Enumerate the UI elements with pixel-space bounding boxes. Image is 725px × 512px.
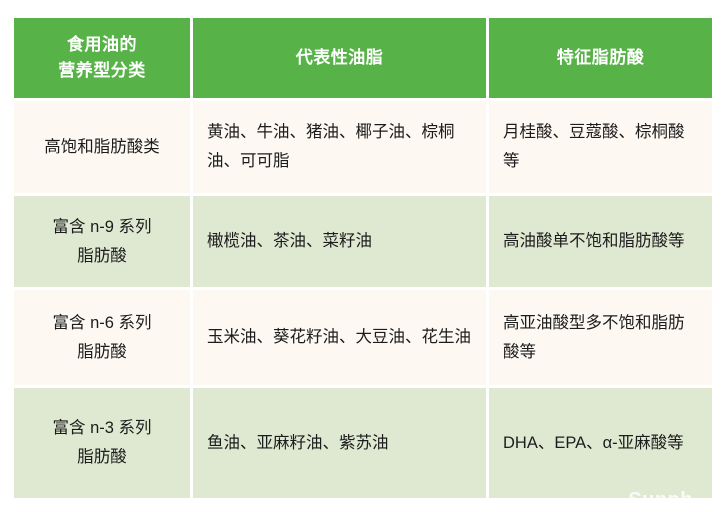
cell-representative-oils: 玉米油、葵花籽油、大豆油、花生油 [193, 290, 486, 385]
table-row: 富含 n-3 系列 脂肪酸 鱼油、亚麻籽油、紫苏油 DHA、EPA、α-亚麻酸等 [14, 388, 712, 498]
column-header-category-line2: 营养型分类 [22, 58, 182, 84]
cell-category: 富含 n-9 系列 脂肪酸 [14, 196, 190, 287]
cell-category: 高饱和脂肪酸类 [14, 101, 190, 193]
table-row: 富含 n-6 系列 脂肪酸 玉米油、葵花籽油、大豆油、花生油 高亚油酸型多不饱和… [14, 290, 712, 385]
column-header-category-line1: 食用油的 [22, 32, 182, 58]
cell-category-line: 富含 n-3 系列 [20, 414, 184, 443]
cell-category-line: 富含 n-6 系列 [20, 309, 184, 338]
cell-category-line: 富含 n-9 系列 [20, 213, 184, 242]
table-header-row: 食用油的 营养型分类 代表性油脂 特征脂肪酸 [14, 18, 712, 98]
cell-category-line: 脂肪酸 [20, 443, 184, 472]
table-row: 高饱和脂肪酸类 黄油、牛油、猪油、椰子油、棕桐油、可可脂 月桂酸、豆蔻酸、棕桐酸… [14, 101, 712, 193]
column-header-characteristic-fatty-acids: 特征脂肪酸 [489, 18, 712, 98]
cell-category-line: 脂肪酸 [20, 242, 184, 271]
cell-category: 富含 n-3 系列 脂肪酸 [14, 388, 190, 498]
table-body: 高饱和脂肪酸类 黄油、牛油、猪油、椰子油、棕桐油、可可脂 月桂酸、豆蔻酸、棕桐酸… [14, 101, 712, 498]
cell-category-line: 脂肪酸 [20, 338, 184, 367]
column-header-category: 食用油的 营养型分类 [14, 18, 190, 98]
cell-characteristic-fatty-acids: 高亚油酸型多不饱和脂肪酸等 [489, 290, 712, 385]
cell-representative-oils: 橄榄油、茶油、菜籽油 [193, 196, 486, 287]
table-header: 食用油的 营养型分类 代表性油脂 特征脂肪酸 [14, 18, 712, 98]
cell-representative-oils: 鱼油、亚麻籽油、紫苏油 [193, 388, 486, 498]
cell-characteristic-fatty-acids: 月桂酸、豆蔻酸、棕桐酸等 [489, 101, 712, 193]
cell-characteristic-fatty-acids: DHA、EPA、α-亚麻酸等 [489, 388, 712, 498]
nutrition-classification-table: 食用油的 营养型分类 代表性油脂 特征脂肪酸 高饱和脂肪酸类 黄油、牛油、猪油、… [11, 15, 715, 501]
cell-category-line: 高饱和脂肪酸类 [20, 133, 184, 162]
column-header-representative-oils: 代表性油脂 [193, 18, 486, 98]
table-row: 富含 n-9 系列 脂肪酸 橄榄油、茶油、菜籽油 高油酸单不饱和脂肪酸等 [14, 196, 712, 287]
cell-characteristic-fatty-acids: 高油酸单不饱和脂肪酸等 [489, 196, 712, 287]
cell-representative-oils: 黄油、牛油、猪油、椰子油、棕桐油、可可脂 [193, 101, 486, 193]
table-container: 食用油的 营养型分类 代表性油脂 特征脂肪酸 高饱和脂肪酸类 黄油、牛油、猪油、… [14, 18, 709, 508]
cell-category: 富含 n-6 系列 脂肪酸 [14, 290, 190, 385]
